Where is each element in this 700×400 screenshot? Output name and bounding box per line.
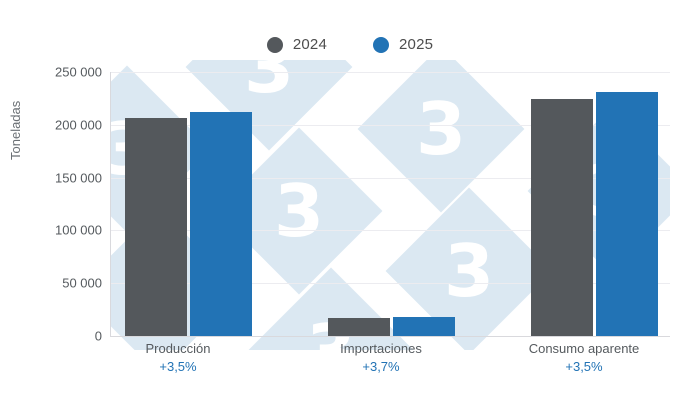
x-tick-label: Producción [98,340,258,358]
y-tick-label: 250 000 [2,65,102,80]
y-axis-line [110,72,111,337]
gridline [110,72,670,73]
plot-area [110,72,670,336]
y-axis-ticks: 0 50 000 100 000 150 000 200 000 250 000 [0,0,102,400]
x-category-delta: +3,5% [504,358,664,376]
y-tick-label: 50 000 [2,276,102,291]
chart-legend: 2024 2025 [0,36,700,53]
y-tick-label: 0 [2,329,102,344]
x-tick-label: Importaciones [301,340,461,358]
x-axis-line [110,336,670,337]
x-category-delta: +3,7% [301,358,461,376]
bar-consumo-aparente-2025[interactable] [596,92,658,336]
y-tick-label: 150 000 [2,170,102,185]
bar-consumo-aparente-2024[interactable] [531,99,593,336]
x-tick-label: Consumo aparente [504,340,664,358]
x-category-produccion: Producción +3,5% [98,340,258,376]
x-category-consumo-aparente: Consumo aparente +3,5% [504,340,664,376]
circle-marker-icon [373,37,389,53]
legend-item-2025[interactable]: 2025 [373,36,433,53]
circle-marker-icon [267,37,283,53]
bar-importaciones-2024[interactable] [328,318,390,336]
bar-produccion-2025[interactable] [190,112,252,336]
legend-item-2024[interactable]: 2024 [267,36,327,53]
bar-chart: 3 3 3 3 3 3 3 3 2024 2025 [0,0,700,400]
y-tick-label: 200 000 [2,117,102,132]
x-category-importaciones: Importaciones +3,7% [301,340,461,376]
legend-label: 2024 [293,36,327,53]
x-category-delta: +3,5% [98,358,258,376]
legend-label: 2025 [399,36,433,53]
bar-produccion-2024[interactable] [125,118,187,336]
y-tick-label: 100 000 [2,223,102,238]
bar-importaciones-2025[interactable] [393,317,455,336]
